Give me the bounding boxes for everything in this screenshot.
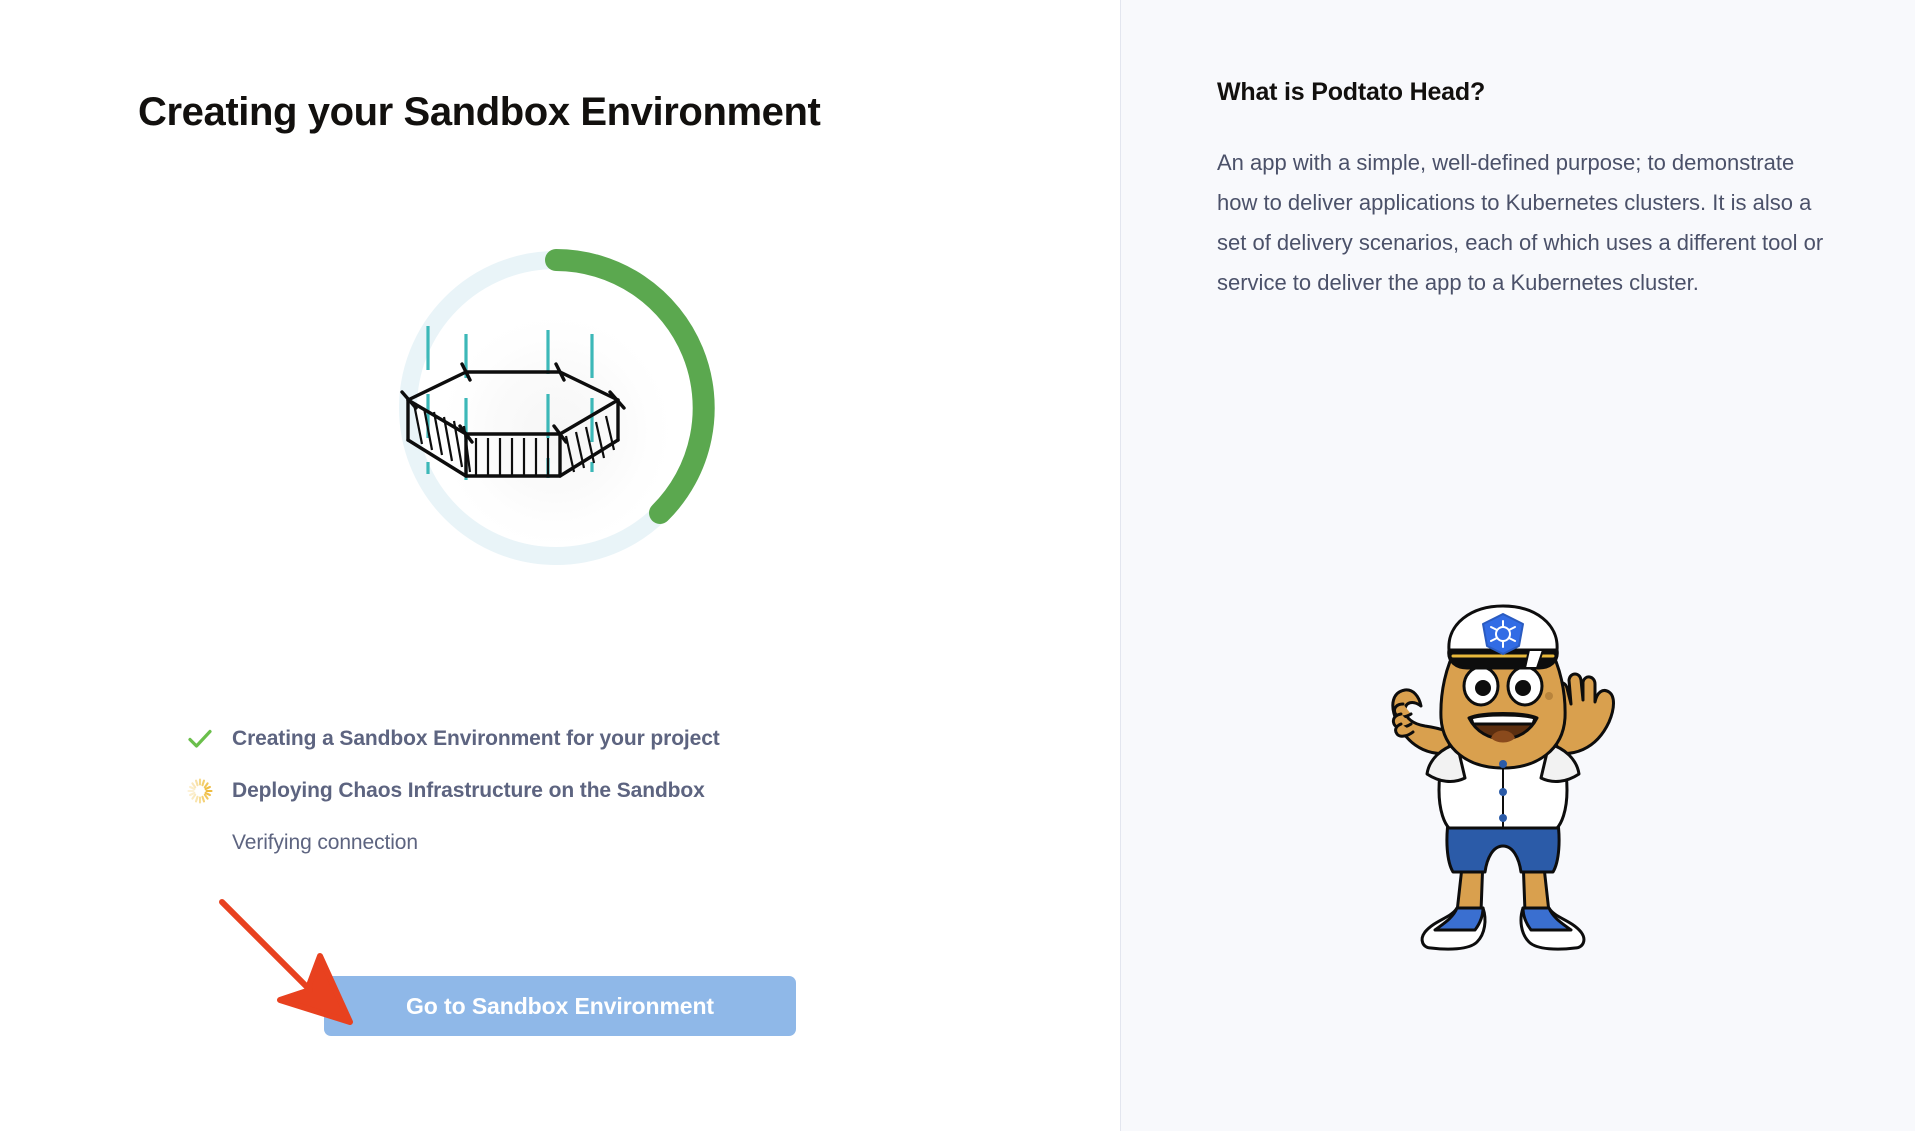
sandbox-creation-page: Creating your Sandbox Environment [0,0,1915,1131]
kubernetes-wheel-icon [1483,614,1523,654]
left-panel: Creating your Sandbox Environment [0,0,1120,1131]
status-item-label: Creating a Sandbox Environment for your … [232,727,720,751]
status-item-verifying-connection: Verifying connection [186,817,946,869]
info-panel-body: An app with a simple, well-defined purpo… [1217,143,1827,303]
status-item-create-sandbox: Creating a Sandbox Environment for your … [186,713,946,765]
spinner-icon [186,777,232,805]
page-title: Creating your Sandbox Environment [138,90,820,135]
illustration-glow [424,286,688,550]
status-item-label: Verifying connection [232,831,418,855]
status-list: Creating a Sandbox Environment for your … [186,713,946,869]
sandbox-progress-illustration [370,222,742,594]
podtato-head-mascot [1353,600,1653,960]
go-to-sandbox-environment-button[interactable]: Go to Sandbox Environment [324,976,796,1036]
right-panel: What is Podtato Head? An app with a simp… [1120,0,1915,1131]
check-icon [186,725,232,753]
info-panel-title: What is Podtato Head? [1217,78,1485,107]
status-item-label: Deploying Chaos Infrastructure on the Sa… [232,779,705,803]
status-item-deploy-chaos-infra: Deploying Chaos Infrastructure on the Sa… [186,765,946,817]
